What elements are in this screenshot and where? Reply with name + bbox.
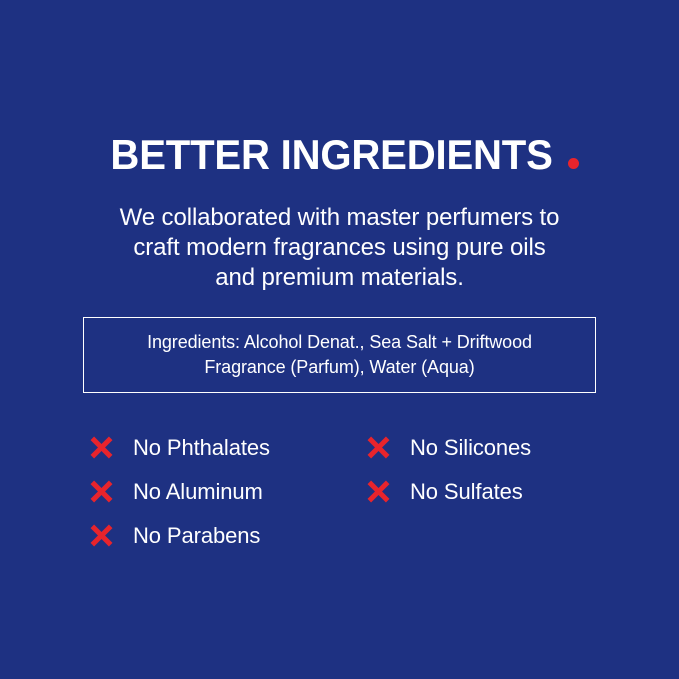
claim-label: No Aluminum bbox=[133, 478, 263, 505]
list-item: No Parabens bbox=[88, 513, 270, 557]
red-x-icon bbox=[88, 434, 115, 461]
claim-label: No Silicones bbox=[410, 434, 531, 461]
ingredients-line-2: Fragrance (Parfum), Water (Aqua) bbox=[147, 355, 532, 380]
red-x-icon bbox=[88, 522, 115, 549]
list-item: No Silicones bbox=[365, 425, 531, 469]
claims-column-right: No Silicones No Sulfates bbox=[365, 425, 531, 513]
page-title-text: BETTER INGREDIENTS bbox=[111, 133, 553, 177]
subtitle-line-2: craft modern fragrances using pure oils bbox=[0, 233, 679, 263]
ingredients-callout-box: Ingredients: Alcohol Denat., Sea Salt + … bbox=[83, 317, 596, 393]
claim-label: No Sulfates bbox=[410, 478, 523, 505]
red-x-icon bbox=[365, 434, 392, 461]
list-item: No Sulfates bbox=[365, 469, 531, 513]
subtitle-paragraph: We collaborated with master perfumers to… bbox=[0, 203, 679, 293]
accent-dot-icon bbox=[568, 158, 579, 169]
red-x-icon bbox=[88, 478, 115, 505]
list-item: No Aluminum bbox=[88, 469, 270, 513]
list-item: No Phthalates bbox=[88, 425, 270, 469]
claims-column-left: No Phthalates No Aluminum No Parabens bbox=[88, 425, 270, 557]
ingredients-text: Ingredients: Alcohol Denat., Sea Salt + … bbox=[137, 330, 542, 380]
claim-label: No Parabens bbox=[133, 522, 260, 549]
claim-label: No Phthalates bbox=[133, 434, 270, 461]
claims-list: No Phthalates No Aluminum No Parabens bbox=[0, 425, 679, 575]
page-title: BETTER INGREDIENTS bbox=[0, 133, 679, 177]
red-x-icon bbox=[365, 478, 392, 505]
ingredients-line-1: Ingredients: Alcohol Denat., Sea Salt + … bbox=[147, 330, 532, 355]
subtitle-line-3: and premium materials. bbox=[0, 263, 679, 293]
ingredients-marketing-panel: BETTER INGREDIENTS We collaborated with … bbox=[0, 0, 679, 679]
subtitle-line-1: We collaborated with master perfumers to bbox=[0, 203, 679, 233]
